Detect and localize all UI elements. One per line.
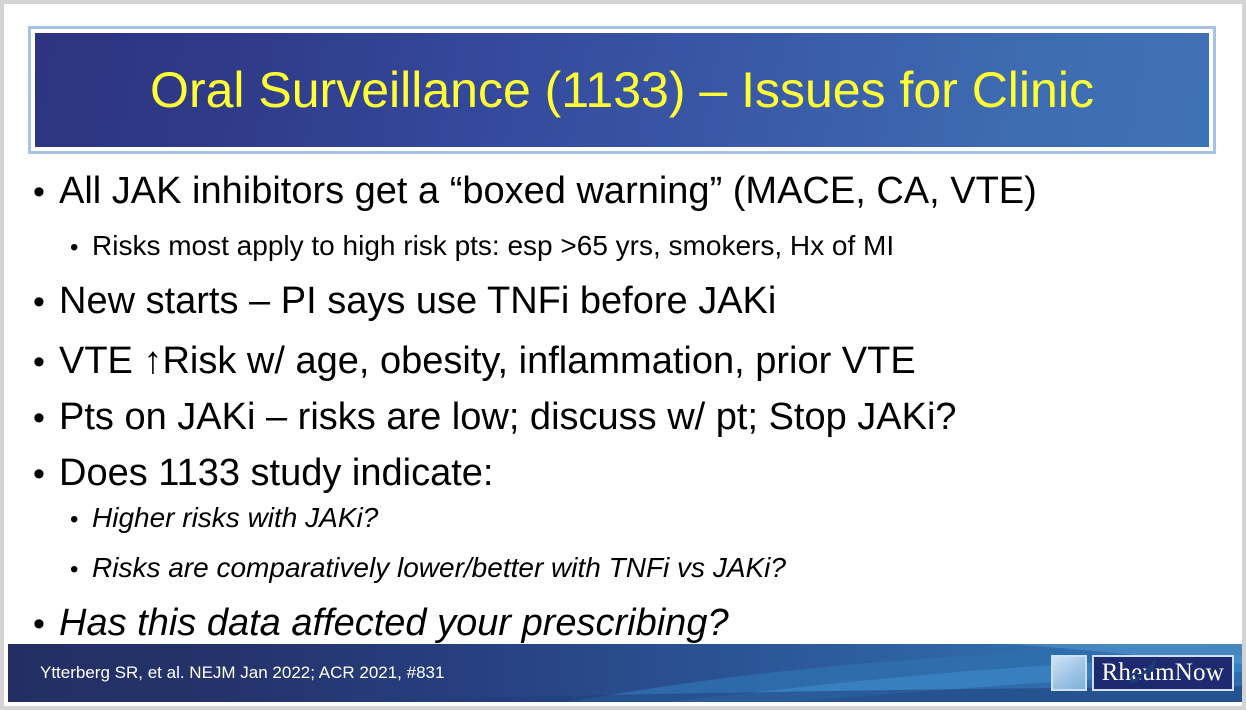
bullet-line-5: •Pts on JAKi – risks are low; discuss w/… bbox=[33, 398, 957, 436]
bullet-text: All JAK inhibitors get a “boxed warning”… bbox=[59, 172, 1037, 210]
bullet-text: VTE ↑Risk w/ age, obesity, inflammation,… bbox=[59, 342, 916, 380]
bullet-line-9: •Has this data affected your prescribing… bbox=[33, 604, 729, 642]
page-title: Oral Surveillance (1133) – Issues for Cl… bbox=[150, 65, 1094, 115]
slide-title-fill: Oral Surveillance (1133) – Issues for Cl… bbox=[35, 33, 1209, 147]
bullet-glyph: • bbox=[70, 508, 92, 532]
bullet-line-4: •VTE ↑Risk w/ age, obesity, inflammation… bbox=[33, 342, 916, 380]
bullet-glyph: • bbox=[33, 345, 59, 379]
bullet-glyph: • bbox=[33, 607, 59, 641]
bullet-glyph: • bbox=[70, 558, 92, 582]
rheumnow-swoosh-icon bbox=[1051, 655, 1087, 691]
bullet-line-6: •Does 1133 study indicate: bbox=[33, 454, 493, 492]
bullet-glyph: • bbox=[33, 401, 59, 435]
bullet-text: Risks are comparatively lower/better wit… bbox=[92, 554, 786, 582]
footer-citation: Ytterberg SR, et al. NEJM Jan 2022; ACR … bbox=[40, 663, 444, 683]
slide-footer: Ytterberg SR, et al. NEJM Jan 2022; ACR … bbox=[8, 644, 1246, 702]
slide-body: •All JAK inhibitors get a “boxed warning… bbox=[8, 164, 1246, 644]
bullet-line-7: •Higher risks with JAKi? bbox=[70, 504, 378, 532]
bullet-text: Higher risks with JAKi? bbox=[92, 504, 378, 532]
bullet-glyph: • bbox=[33, 175, 59, 209]
bullet-text: Has this data affected your prescribing? bbox=[59, 604, 729, 642]
bullet-text: New starts – PI says use TNFi before JAK… bbox=[59, 282, 776, 320]
bullet-line-1: •All JAK inhibitors get a “boxed warning… bbox=[33, 172, 1037, 210]
bullet-line-2: •Risks most apply to high risk pts: esp … bbox=[70, 232, 894, 260]
slide: Oral Surveillance (1133) – Issues for Cl… bbox=[0, 0, 1246, 710]
slide-title-box: Oral Surveillance (1133) – Issues for Cl… bbox=[28, 26, 1216, 154]
bullet-glyph: • bbox=[33, 285, 59, 319]
bullet-text: Risks most apply to high risk pts: esp >… bbox=[92, 232, 894, 260]
rheumnow-logo[interactable]: RheumNow bbox=[1051, 655, 1234, 691]
bullet-glyph: • bbox=[70, 236, 92, 260]
bullet-text: Pts on JAKi – risks are low; discuss w/ … bbox=[59, 398, 957, 436]
bullet-line-8: •Risks are comparatively lower/better wi… bbox=[70, 554, 786, 582]
bullet-text: Does 1133 study indicate: bbox=[59, 454, 493, 492]
bullet-line-3: •New starts – PI says use TNFi before JA… bbox=[33, 282, 776, 320]
bullet-glyph: • bbox=[33, 457, 59, 491]
